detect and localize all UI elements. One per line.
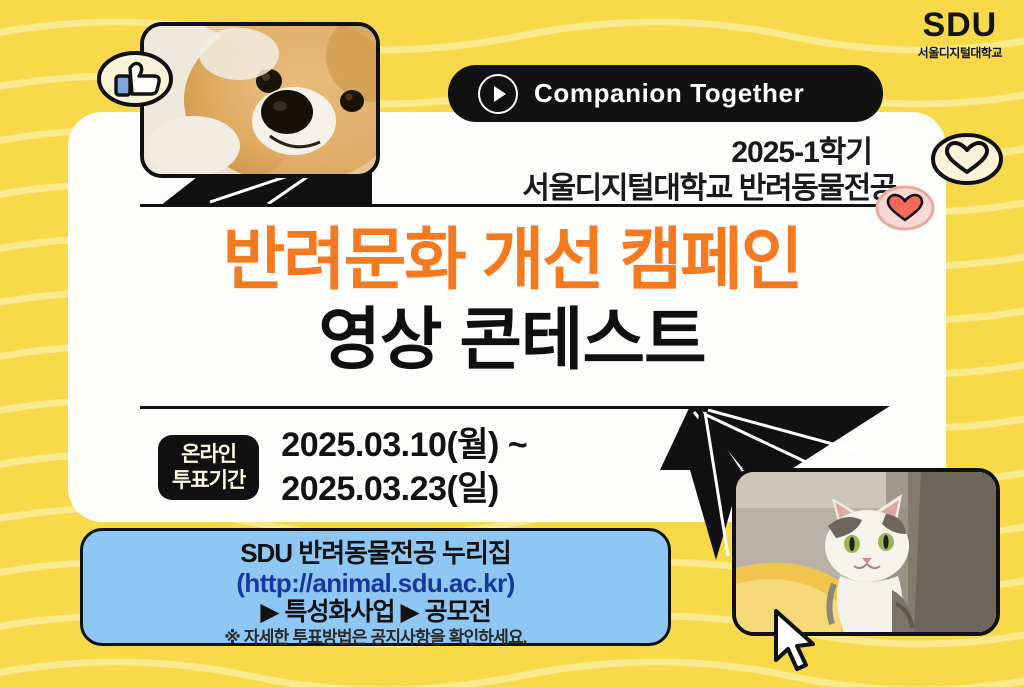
sdu-logo-mark: SDU bbox=[918, 8, 1002, 42]
vote-period-badge: 온라인 투표기간 bbox=[158, 435, 259, 500]
heart-outline-icon bbox=[930, 130, 1004, 188]
vote-period-badge-line1: 온라인 bbox=[181, 443, 236, 467]
headline-primary: 반려문화 개선 캠페인 bbox=[0, 226, 1024, 294]
mouse-cursor-icon bbox=[770, 608, 822, 674]
poster-canvas: SDU 서울디지털대학교 Companion Together bbox=[0, 0, 1024, 687]
headline-secondary: 영상 콘테스트 bbox=[0, 306, 1024, 374]
vote-period-badge-line2: 투표기간 bbox=[172, 469, 245, 493]
vote-period-dates: 2025.03.10(월) ~ 2025.03.23(일) bbox=[281, 424, 527, 511]
department-label: 서울디지털대학교 반려동물전공 bbox=[522, 163, 896, 207]
thumbs-up-icon bbox=[96, 48, 174, 110]
vote-period-row: 온라인 투표기간 2025.03.10(월) ~ 2025.03.23(일) bbox=[158, 424, 527, 511]
info-box[interactable]: SDU 반려동물전공 누리집 (http://animal.sdu.ac.kr)… bbox=[80, 528, 671, 646]
divider-bottom bbox=[140, 406, 882, 409]
play-circle-icon bbox=[478, 74, 518, 114]
vote-end-date: 2025.03.23(일) bbox=[281, 468, 527, 512]
dog-photo bbox=[140, 22, 380, 178]
banner-label: Companion Together bbox=[534, 78, 804, 109]
heart-filled-icon bbox=[874, 183, 936, 233]
vote-start-date: 2025.03.10(월) ~ bbox=[281, 424, 527, 468]
sdu-logo: SDU 서울디지털대학교 bbox=[918, 8, 1002, 61]
info-navigation-path: ▶ 특성화사업 ▶ 공모전 bbox=[83, 598, 668, 628]
info-notice: ※ 자세한 투표방법은 공지사항을 확인하세요. bbox=[83, 628, 668, 648]
info-site-url[interactable]: (http://animal.sdu.ac.kr) bbox=[83, 568, 668, 598]
info-site-name: SDU 반려동물전공 누리집 bbox=[83, 538, 668, 568]
sdu-logo-subtext: 서울디지털대학교 bbox=[918, 44, 1002, 61]
companion-together-banner: Companion Together bbox=[448, 65, 883, 122]
